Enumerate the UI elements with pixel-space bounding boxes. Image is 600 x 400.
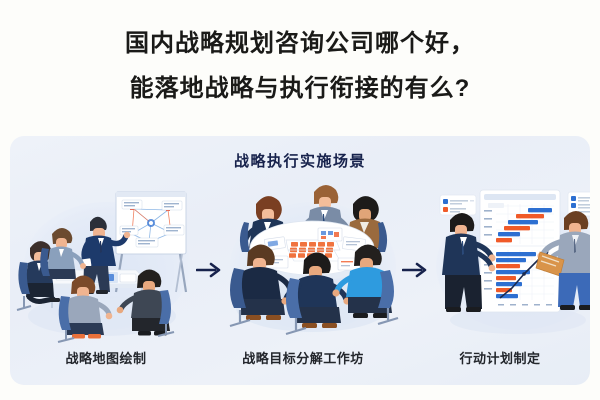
arrow-right-icon bbox=[402, 262, 428, 278]
legend-card-left bbox=[440, 195, 476, 215]
card-header-title: 战略执行实施场景 bbox=[10, 150, 590, 171]
scenario-card: 战略执行实施场景 bbox=[10, 136, 590, 385]
arrow-right-icon bbox=[196, 262, 222, 278]
illustration-gantt-chart-review bbox=[428, 176, 590, 346]
step-arrow-2-cell bbox=[402, 176, 428, 346]
step-caption-3: 行动计划制定 bbox=[410, 348, 590, 367]
page-title-line-1: 国内战略规划咨询公司哪个好， bbox=[0, 26, 600, 62]
step-panel-2[interactable] bbox=[222, 176, 402, 346]
screenshot-root: 国内战略规划咨询公司哪个好， 能落地战略与执行衔接的有么? 战略执行实施场景 bbox=[0, 0, 600, 400]
illustration-round-table-workshop bbox=[222, 176, 402, 346]
step-panel-1[interactable] bbox=[16, 176, 196, 346]
step-caption-1: 战略地图绘制 bbox=[16, 348, 196, 367]
steps-row bbox=[10, 176, 590, 346]
page-title-line-2: 能落地战略与执行衔接的有么? bbox=[0, 71, 600, 107]
step-arrow-1-cell bbox=[196, 176, 222, 346]
illustration-meeting-with-flipchart bbox=[16, 176, 196, 346]
step-caption-2: 战略目标分解工作坊 bbox=[213, 348, 393, 367]
step-captions-row: 战略地图绘制 战略目标分解工作坊 行动计划制定 bbox=[10, 348, 590, 378]
page-title: 国内战略规划咨询公司哪个好， 能落地战略与执行衔接的有么? bbox=[0, 26, 600, 107]
step-panel-3[interactable] bbox=[428, 176, 590, 346]
